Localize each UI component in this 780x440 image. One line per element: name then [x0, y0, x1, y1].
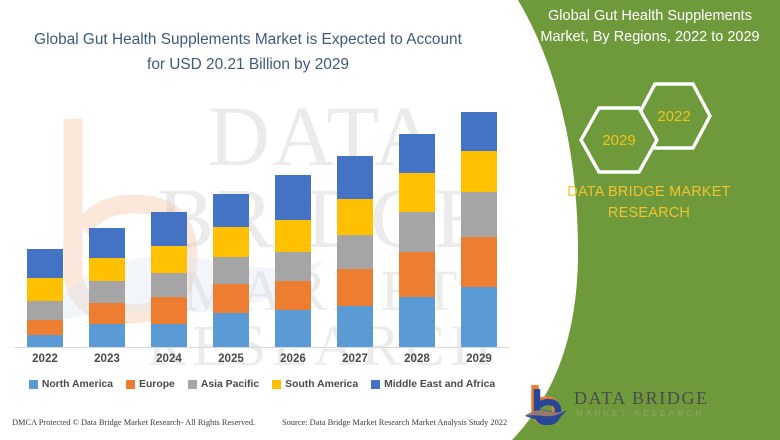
- panel-brand-line-1: DATA BRIDGE MARKET: [538, 182, 760, 203]
- bar-segment: [151, 212, 187, 246]
- bar-segment: [399, 252, 435, 297]
- legend-item[interactable]: North America: [29, 379, 113, 390]
- bar-column: [324, 96, 386, 347]
- bar-segment: [213, 284, 249, 312]
- bar-segment: [27, 301, 63, 320]
- footer-source-text: Source: Data Bridge Market Research Mark…: [282, 418, 507, 427]
- x-axis-label: 2025: [200, 352, 262, 365]
- bar-segment: [89, 258, 125, 282]
- side-panel: Global Gut Health Supplements Market, By…: [498, 0, 780, 440]
- x-axis-label: 2024: [138, 352, 200, 365]
- bar-segment: [337, 199, 373, 234]
- page-title: Global Gut Health Supplements Market is …: [18, 28, 478, 78]
- bar-segment: [275, 310, 311, 347]
- bar-segment: [27, 335, 63, 347]
- stacked-bar: [27, 249, 63, 347]
- x-axis-label: 2026: [262, 352, 324, 365]
- infographic-root: DATA BRIDGE MARKET RESEARCH Global Gut H…: [0, 0, 780, 440]
- x-axis-label: 2028: [386, 352, 448, 365]
- bar-column: [14, 96, 76, 347]
- hexagon-2029-label: 2029: [578, 106, 660, 174]
- legend-label: Middle East and Africa: [384, 379, 495, 390]
- bar-segment: [27, 249, 63, 278]
- bar-segment: [399, 212, 435, 252]
- brand-logo-name: DATA BRIDGE: [574, 388, 709, 409]
- bar-segment: [151, 273, 187, 297]
- stacked-bar-series: [14, 96, 510, 347]
- x-axis-line: [14, 347, 510, 348]
- legend-label: Asia Pacific: [201, 379, 259, 390]
- brand-logo: DATA BRIDGE MARKET RESEARCH: [524, 382, 724, 428]
- legend-label: Europe: [139, 379, 175, 390]
- bar-segment: [461, 287, 497, 347]
- footer-dmca-text: DMCA Protected © Data Bridge Market Rese…: [12, 418, 255, 427]
- stacked-bar: [337, 156, 373, 347]
- bar-segment: [213, 313, 249, 347]
- stacked-bar: [399, 134, 435, 347]
- legend-swatch-icon: [126, 380, 135, 389]
- stacked-bar: [89, 228, 125, 347]
- legend-item[interactable]: Middle East and Africa: [371, 379, 495, 390]
- bar-segment: [461, 151, 497, 192]
- bar-segment: [275, 220, 311, 252]
- x-axis-label: 2022: [14, 352, 76, 365]
- legend-label: North America: [42, 379, 113, 390]
- bar-segment: [89, 324, 125, 347]
- stacked-bar: [213, 194, 249, 347]
- bar-column: [138, 96, 200, 347]
- bar-segment: [337, 269, 373, 306]
- bar-column: [76, 96, 138, 347]
- chart-legend: North AmericaEuropeAsia PacificSouth Ame…: [14, 375, 510, 393]
- stacked-bar: [151, 212, 187, 347]
- bar-column: [386, 96, 448, 347]
- bar-column: [200, 96, 262, 347]
- bar-segment: [461, 237, 497, 286]
- bar-segment: [399, 134, 435, 173]
- bar-segment: [461, 112, 497, 151]
- legend-swatch-icon: [29, 380, 38, 389]
- stacked-bar: [275, 175, 311, 347]
- bar-segment: [275, 281, 311, 311]
- x-axis-label: 2027: [324, 352, 386, 365]
- bar-segment: [27, 320, 63, 335]
- legend-item[interactable]: Europe: [126, 379, 175, 390]
- bar-segment: [89, 228, 125, 257]
- legend-swatch-icon: [188, 380, 197, 389]
- side-panel-content: Global Gut Health Supplements Market, By…: [498, 0, 780, 440]
- legend-item[interactable]: South America: [272, 379, 358, 390]
- brand-logo-subtitle: MARKET RESEARCH: [576, 409, 704, 418]
- bar-segment: [213, 194, 249, 228]
- bar-segment: [337, 235, 373, 269]
- bar-column: [262, 96, 324, 347]
- bar-segment: [337, 156, 373, 199]
- side-panel-title: Global Gut Health Supplements Market, By…: [536, 6, 764, 47]
- legend-swatch-icon: [371, 380, 380, 389]
- bar-segment: [275, 175, 311, 220]
- bar-segment: [151, 324, 187, 347]
- bar-segment: [89, 303, 125, 325]
- bar-segment: [213, 257, 249, 284]
- x-axis-label: 2023: [76, 352, 138, 365]
- bar-segment: [213, 227, 249, 257]
- stacked-bar: [461, 112, 497, 347]
- bar-segment: [151, 246, 187, 273]
- bar-segment: [399, 173, 435, 212]
- bar-segment: [27, 278, 63, 301]
- page-title-line-1: Global Gut Health Supplements Market is …: [18, 28, 478, 53]
- x-axis-labels: 20222023202420252026202720282029: [14, 352, 510, 365]
- bar-segment: [151, 297, 187, 324]
- chart-area: Global Gut Health Supplements Market is …: [0, 0, 520, 440]
- bar-segment: [275, 252, 311, 280]
- legend-item[interactable]: Asia Pacific: [188, 379, 259, 390]
- page-title-line-2: for USD 20.21 Billion by 2029: [18, 53, 478, 78]
- panel-brand-line-2: RESEARCH: [538, 203, 760, 224]
- legend-swatch-icon: [272, 380, 281, 389]
- bar-segment: [399, 297, 435, 347]
- panel-brand-name: DATA BRIDGE MARKET RESEARCH: [538, 182, 760, 224]
- legend-label: South America: [285, 379, 358, 390]
- bar-segment: [337, 306, 373, 347]
- bar-segment: [461, 192, 497, 237]
- footer: DMCA Protected © Data Bridge Market Rese…: [0, 415, 520, 437]
- brand-logo-mark-icon: [524, 383, 568, 425]
- hexagon-group: 2022 2029: [578, 82, 718, 174]
- bar-segment: [89, 281, 125, 303]
